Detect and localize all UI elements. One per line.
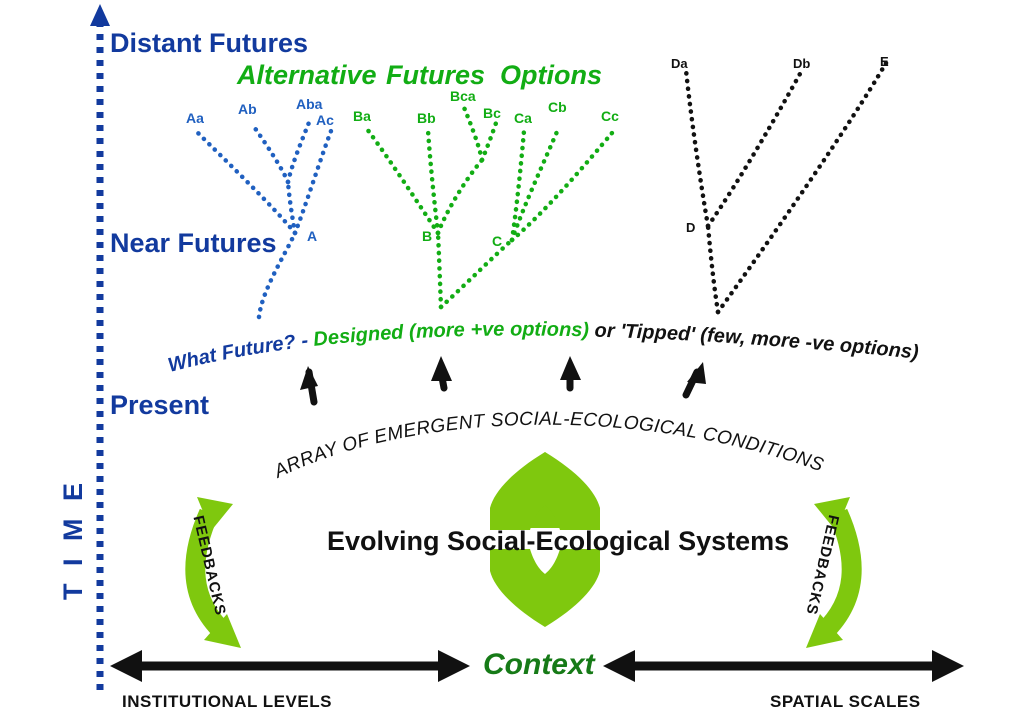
time-tick-near-futures: Near Futures xyxy=(110,228,277,259)
tree-tip-label-db: Db xyxy=(793,56,810,71)
question-line-text: What Future? - Designed (more +ve option… xyxy=(166,319,920,377)
feedback-label-left: FEEDBACKS xyxy=(189,514,229,618)
tree-root-label-c: C xyxy=(492,233,502,249)
tree-tip-label-aa: Aa xyxy=(186,110,204,126)
spatial-scales-label: SPATIAL SCALES xyxy=(770,692,921,712)
tree-green-c xyxy=(441,127,612,307)
emergence-arrow-3 xyxy=(560,356,581,388)
chevron-up-icon xyxy=(490,452,600,528)
tree-blue xyxy=(198,120,331,317)
time-axis-label: T I M E xyxy=(58,478,89,600)
tree-root-label-d: D xyxy=(686,220,695,235)
institutional-levels-label: INSTITUTIONAL LEVELS xyxy=(122,692,332,712)
tree-tip-label-ca: Ca xyxy=(514,110,532,126)
tree-black xyxy=(686,63,886,312)
tree-root-label-b: B xyxy=(422,228,432,244)
headline-word-futures: Futures xyxy=(386,60,485,91)
time-tick-distant-futures: Distant Futures xyxy=(110,28,308,59)
array-conditions-text: ARRAY OF EMERGENT SOCIAL-ECOLOGICAL COND… xyxy=(270,409,826,483)
time-tick-present: Present xyxy=(110,390,209,421)
emergence-arrow-2 xyxy=(431,356,452,388)
tree-tip-label-bb: Bb xyxy=(417,110,436,126)
headline-word-alternative: Alternative xyxy=(237,60,377,91)
emergence-arrow-4 xyxy=(686,362,706,395)
chevron-up-body xyxy=(490,452,600,530)
tree-root-label-a: A xyxy=(307,228,317,244)
tree-tip-label-aba: Aba xyxy=(296,96,322,112)
tree-tip-label-bca: Bca xyxy=(450,88,476,104)
chevron-down-body xyxy=(490,549,600,627)
emergence-arrow-1 xyxy=(300,366,318,402)
tree-tip-label-cc: Cc xyxy=(601,108,619,124)
tree-tip-label-ac: Ac xyxy=(316,112,334,128)
tree-tip-label-cb: Cb xyxy=(548,99,567,115)
emergence-arrows xyxy=(300,356,706,402)
spatial-scales-axis xyxy=(603,650,964,682)
tree-tip-label-ba: Ba xyxy=(353,108,371,124)
context-label: Context xyxy=(483,648,595,682)
feedback-label-right: FEEDBACKS xyxy=(802,513,842,617)
tree-tip-label-da: Da xyxy=(671,56,688,71)
tree-tip-label-e: E xyxy=(880,54,889,69)
tree-tip-label-bc: Bc xyxy=(483,105,501,121)
institutional-levels-axis xyxy=(110,650,470,682)
tree-tip-label-ab: Ab xyxy=(238,101,257,117)
diagram-canvas: What Future? - Designed (more +ve option… xyxy=(0,0,1024,726)
center-system-title: Evolving Social-Ecological Systems xyxy=(327,526,789,557)
diagram-vector-layer: What Future? - Designed (more +ve option… xyxy=(0,0,1024,726)
time-axis-line xyxy=(90,4,110,690)
headline-word-options: Options xyxy=(500,60,602,91)
tree-green-b xyxy=(367,105,497,307)
